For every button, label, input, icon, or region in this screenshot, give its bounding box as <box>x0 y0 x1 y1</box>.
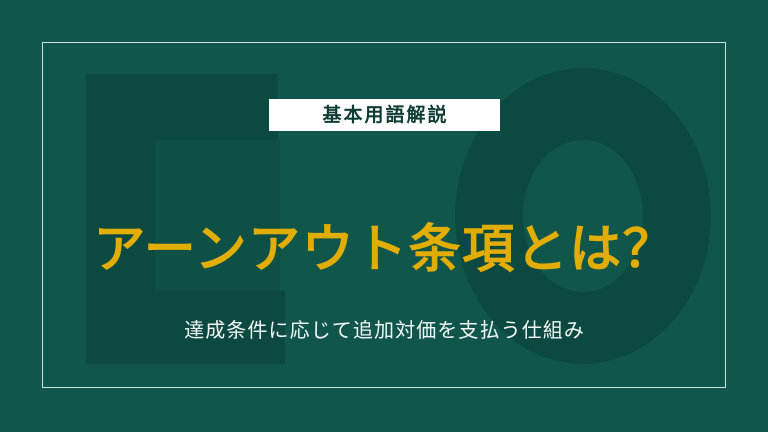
page-title: アーンアウト条項とは？ <box>0 213 768 287</box>
eyebrow-label: 基本用語解説 <box>320 106 448 125</box>
slide-content: 基本用語解説 アーンアウト条項とは？ 達成条件に応じて追加対価を支払う仕組み <box>0 0 768 432</box>
slide-canvas: 基本用語解説 アーンアウト条項とは？ 達成条件に応じて追加対価を支払う仕組み <box>0 0 768 432</box>
subtitle: 達成条件に応じて追加対価を支払う仕組み <box>0 318 768 344</box>
eyebrow-badge: 基本用語解説 <box>269 99 500 131</box>
